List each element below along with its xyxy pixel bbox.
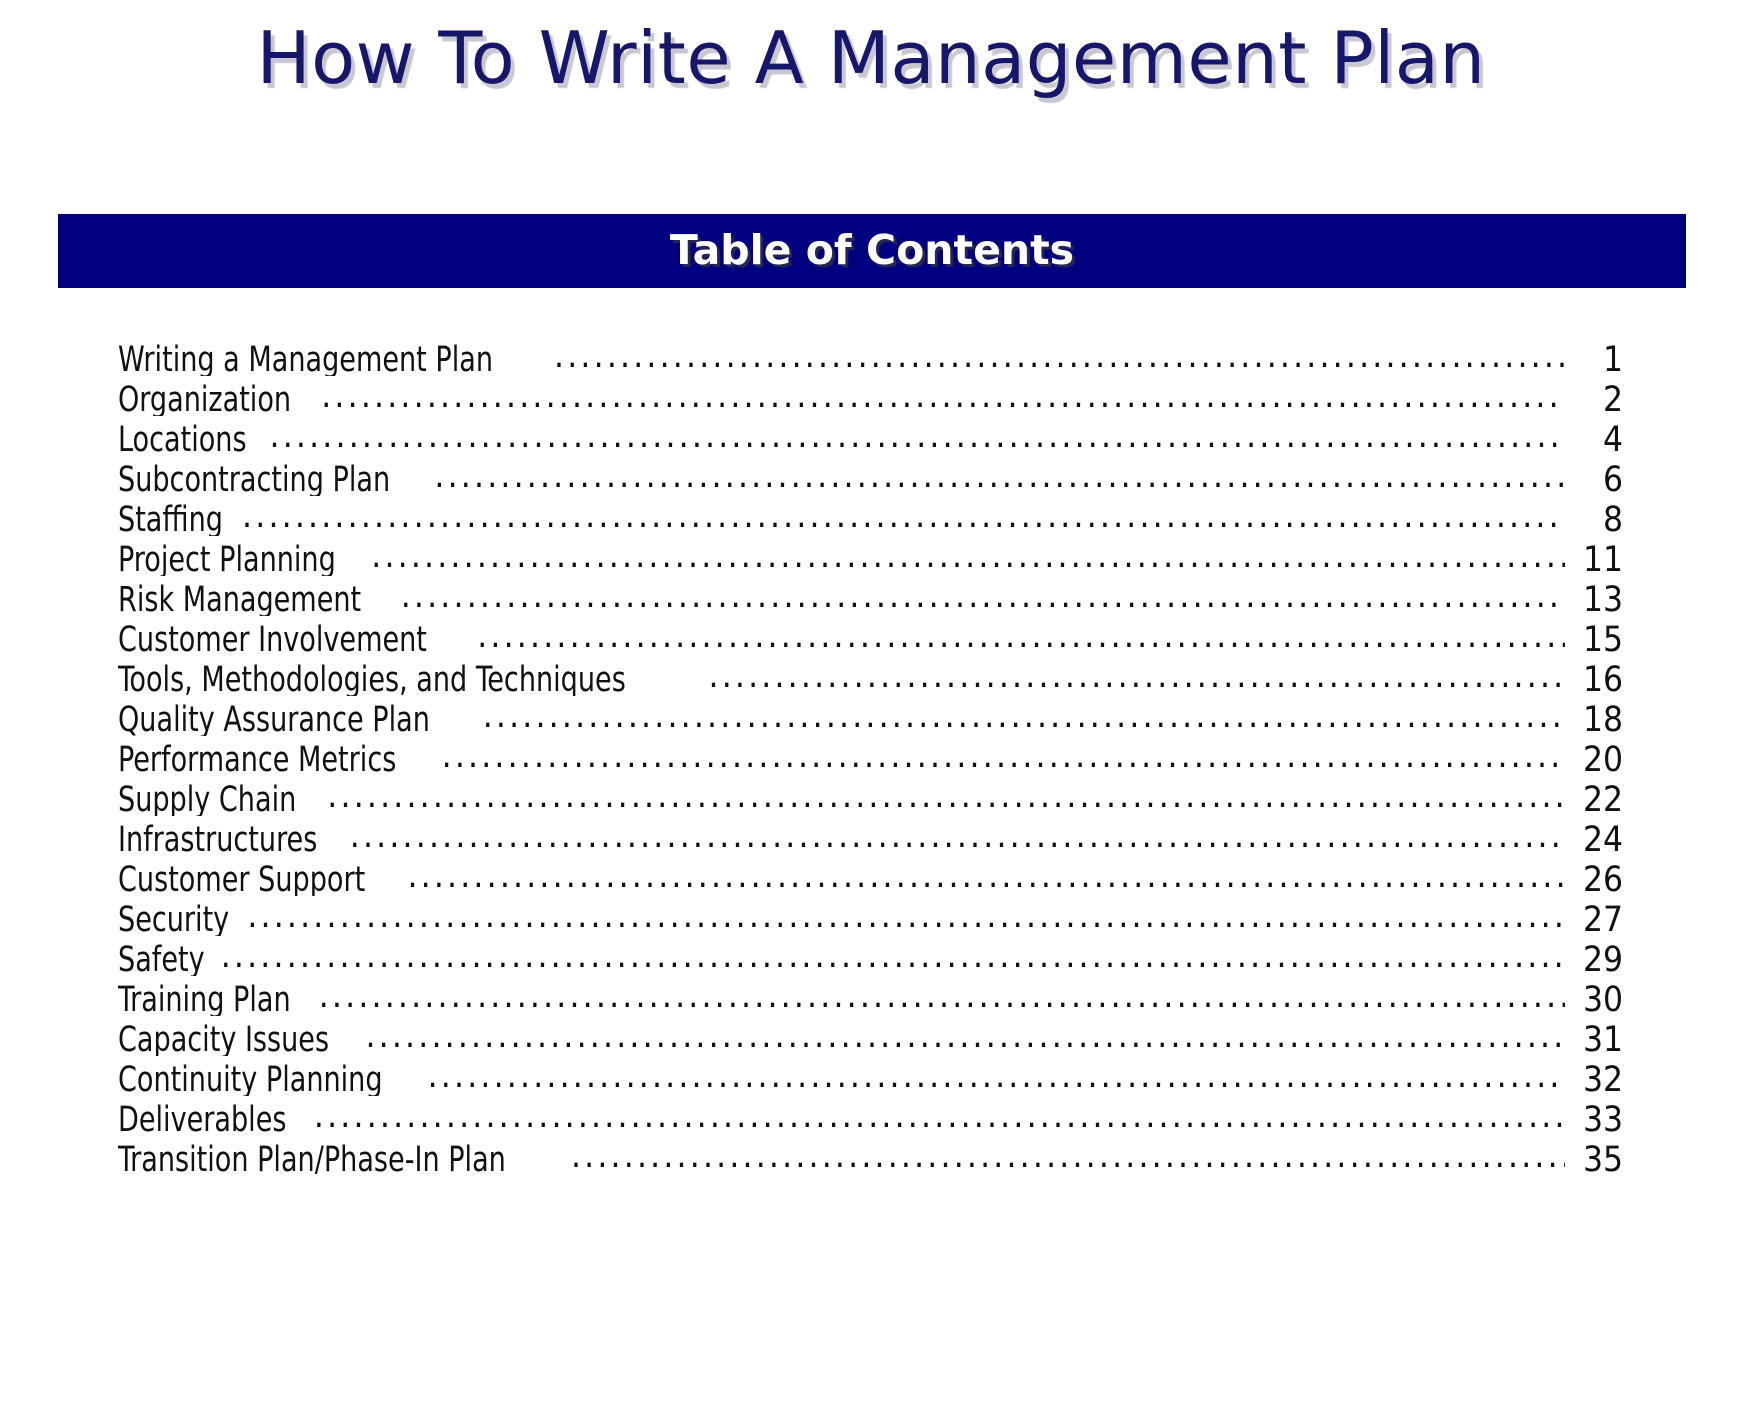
toc-entry-page-number: 11 [1567, 540, 1623, 576]
toc-entry[interactable]: Transition Plan/Phase-In Plan35 [118, 1136, 1623, 1176]
section-header-label: Table of Contents [58, 226, 1686, 274]
toc-entry-title: Security [118, 900, 229, 936]
toc-entry-title: Writing a Management Plan [118, 340, 493, 376]
toc-entry-page-number: 18 [1567, 700, 1623, 736]
toc-entry-title: Subcontracting Plan [118, 460, 390, 496]
toc-entry[interactable]: Supply Chain22 [118, 776, 1623, 816]
toc-entry-title: Locations [118, 420, 247, 456]
toc-entry-title: Staffing [118, 500, 223, 536]
toc-entry-title: Safety [118, 940, 205, 976]
toc-dot-leader [270, 416, 1565, 451]
toc-entry-page-number: 27 [1567, 900, 1623, 936]
toc-entry-title: Quality Assurance Plan [118, 700, 430, 736]
toc-entry[interactable]: Staffing8 [118, 496, 1623, 536]
toc-dot-leader [401, 576, 1565, 611]
toc-entry-title: Tools, Methodologies, and Techniques [118, 660, 626, 696]
toc-entry[interactable]: Tools, Methodologies, and Techniques16 [118, 656, 1623, 696]
toc-dot-leader [571, 1136, 1565, 1171]
toc-dot-leader [428, 1056, 1565, 1091]
toc-entry-page-number: 13 [1567, 580, 1623, 616]
toc-entry[interactable]: Risk Management13 [118, 576, 1623, 616]
toc-entry-page-number: 29 [1567, 940, 1623, 976]
toc-entry[interactable]: Subcontracting Plan6 [118, 456, 1623, 496]
toc-entry[interactable]: Capacity Issues31 [118, 1016, 1623, 1056]
toc-dot-leader [327, 776, 1565, 811]
toc-entry-title: Infrastructures [118, 820, 317, 856]
toc-entry-title: Project Planning [118, 540, 336, 576]
toc-entry[interactable]: Infrastructures24 [118, 816, 1623, 856]
toc-entry[interactable]: Security27 [118, 896, 1623, 936]
toc-dot-leader [319, 976, 1565, 1011]
toc-entry-title: Organization [118, 380, 291, 416]
toc-entry[interactable]: Project Planning11 [118, 536, 1623, 576]
toc-dot-leader [709, 656, 1566, 691]
toc-entry[interactable]: Performance Metrics20 [118, 736, 1623, 776]
toc-entry[interactable]: Locations4 [118, 416, 1623, 456]
toc-entry-page-number: 20 [1567, 740, 1623, 776]
toc-dot-leader [221, 936, 1565, 971]
toc-entry[interactable]: Organization2 [118, 376, 1623, 416]
toc-entry-page-number: 24 [1567, 820, 1623, 856]
toc-dot-leader [554, 336, 1565, 371]
toc-entry-title: Customer Support [118, 860, 365, 896]
toc-dot-leader [350, 816, 1565, 851]
toc-entry-page-number: 26 [1567, 860, 1623, 896]
toc-entry-title: Customer Involvement [118, 620, 427, 656]
toc-entry-title: Performance Metrics [118, 740, 396, 776]
toc-entry-page-number: 31 [1567, 1020, 1623, 1056]
toc-entry[interactable]: Deliverables33 [118, 1096, 1623, 1136]
toc-entry-page-number: 30 [1567, 980, 1623, 1016]
toc-dot-leader [321, 376, 1565, 411]
toc-entry[interactable]: Training Plan30 [118, 976, 1623, 1016]
toc-dot-leader [434, 456, 1565, 491]
toc-dot-leader [365, 1016, 1565, 1051]
toc-entry-title: Capacity Issues [118, 1020, 329, 1056]
toc-dot-leader [477, 616, 1565, 651]
toc-entry-page-number: 4 [1567, 420, 1623, 456]
toc-entry-page-number: 32 [1567, 1060, 1623, 1096]
toc-entry-title: Risk Management [118, 580, 361, 616]
toc-dot-leader [442, 736, 1565, 771]
toc-entry-page-number: 35 [1567, 1140, 1623, 1176]
toc-entry-title: Training Plan [118, 980, 291, 1016]
toc-entry[interactable]: Customer Involvement15 [118, 616, 1623, 656]
toc-entry-page-number: 2 [1567, 380, 1623, 416]
toc-dot-leader [242, 496, 1565, 531]
toc-entry[interactable]: Quality Assurance Plan18 [118, 696, 1623, 736]
toc-dot-leader [247, 896, 1565, 931]
toc-dot-leader [407, 856, 1565, 891]
toc-entry-title: Continuity Planning [118, 1060, 383, 1096]
page-title: How To Write A Management Plan [0, 22, 1742, 94]
toc-entry[interactable]: Continuity Planning32 [118, 1056, 1623, 1096]
toc-entry-page-number: 22 [1567, 780, 1623, 816]
toc-entry-page-number: 6 [1567, 460, 1623, 496]
toc-entry-page-number: 33 [1567, 1100, 1623, 1136]
toc-dot-leader [314, 1096, 1565, 1131]
toc-entry-title: Supply Chain [118, 780, 296, 816]
toc-entry-title: Transition Plan/Phase-In Plan [118, 1140, 506, 1176]
toc-entry-page-number: 1 [1567, 340, 1623, 376]
toc-dot-leader [483, 696, 1565, 731]
toc-entry-title: Deliverables [118, 1100, 286, 1136]
toc-entry-page-number: 16 [1567, 660, 1623, 696]
toc-dot-leader [371, 536, 1565, 571]
toc-entry[interactable]: Customer Support26 [118, 856, 1623, 896]
toc-entry[interactable]: Writing a Management Plan1 [118, 336, 1623, 376]
toc-entry-page-number: 15 [1567, 620, 1623, 656]
section-header-bar: Table of Contents [58, 214, 1686, 288]
toc-entry-page-number: 8 [1567, 500, 1623, 536]
toc-entry[interactable]: Safety29 [118, 936, 1623, 976]
table-of-contents-list: Writing a Management Plan1Organization2L… [118, 336, 1623, 1176]
